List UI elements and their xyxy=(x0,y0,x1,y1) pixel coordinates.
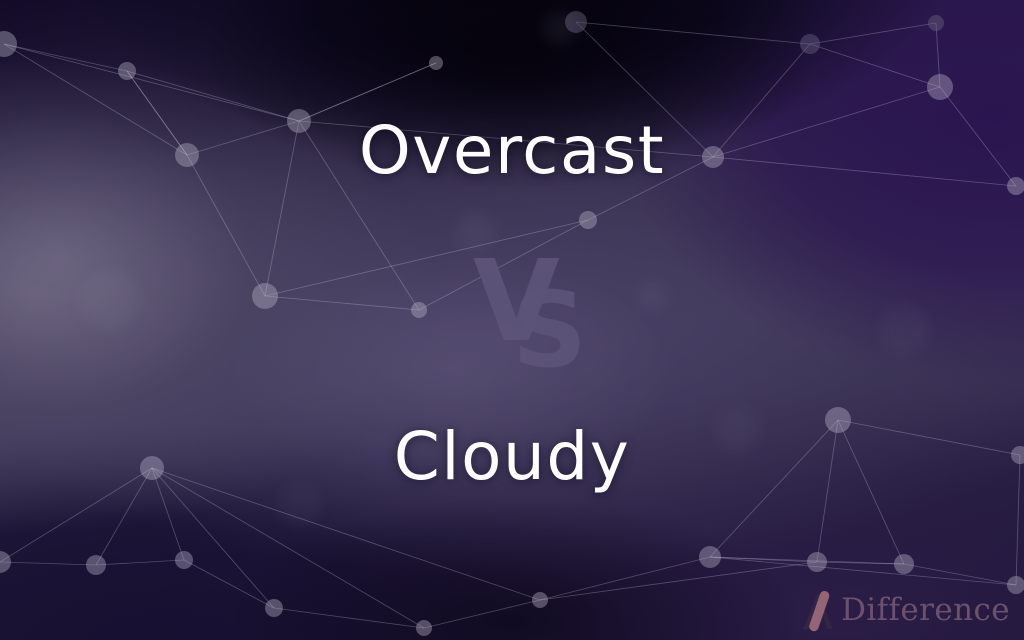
network-edge xyxy=(4,44,127,71)
network-nodes xyxy=(0,11,1024,636)
network-graphic xyxy=(0,0,1024,640)
network-edge xyxy=(710,557,1016,585)
comparison-banner: V S Overcast Cloudy Difference xyxy=(0,0,1024,640)
network-edge xyxy=(184,560,274,608)
network-edge xyxy=(274,608,424,628)
network-node xyxy=(807,552,827,572)
network-edge xyxy=(540,562,817,600)
network-node xyxy=(252,283,278,309)
network-edge xyxy=(810,23,936,44)
watermark-label: Difference xyxy=(841,595,1010,626)
term-b-heading: Cloudy xyxy=(0,424,1024,490)
network-node xyxy=(86,555,106,575)
network-node xyxy=(175,551,193,569)
network-edge xyxy=(265,220,588,296)
network-edge xyxy=(419,220,588,310)
network-node xyxy=(928,15,944,31)
network-edge xyxy=(424,600,540,628)
term-a-heading: Overcast xyxy=(0,118,1024,184)
network-node xyxy=(429,56,443,70)
a-difference-logo-icon xyxy=(797,588,839,632)
network-node xyxy=(800,34,820,54)
network-edge xyxy=(576,22,810,44)
network-edge xyxy=(127,71,299,121)
network-node xyxy=(118,62,136,80)
network-node xyxy=(265,599,283,617)
network-edge xyxy=(265,296,419,310)
network-node xyxy=(411,302,427,318)
network-edge xyxy=(96,560,184,565)
network-node xyxy=(927,74,953,100)
network-edge xyxy=(4,44,299,121)
network-node xyxy=(0,551,11,573)
network-node xyxy=(894,554,914,574)
network-node xyxy=(0,31,17,57)
watermark: Difference xyxy=(797,588,1010,632)
network-edge xyxy=(540,557,710,600)
network-node xyxy=(416,620,432,636)
network-node xyxy=(579,211,597,229)
network-node xyxy=(565,11,587,33)
network-edge xyxy=(810,44,940,87)
network-node xyxy=(532,592,548,608)
network-edge xyxy=(0,562,96,565)
network-node xyxy=(699,546,721,568)
network-edge xyxy=(904,564,1016,585)
network-edge xyxy=(152,468,424,628)
